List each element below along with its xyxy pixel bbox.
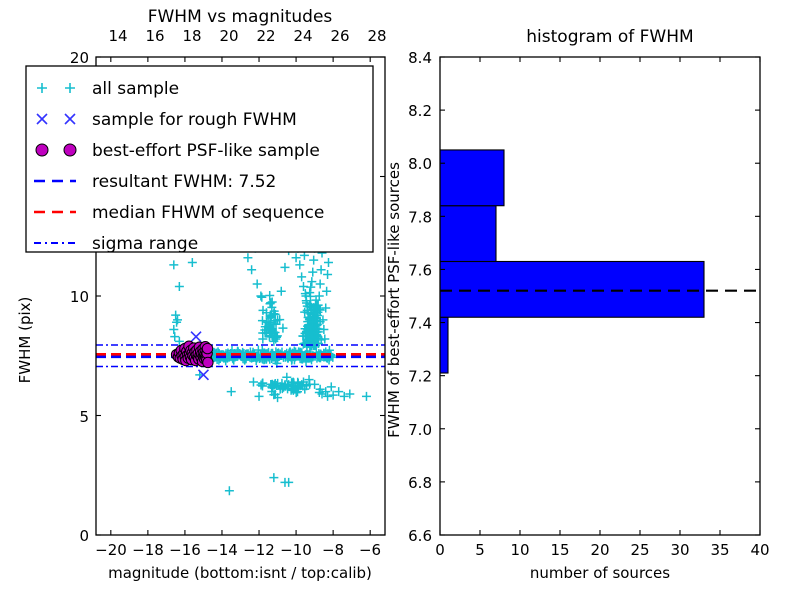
top-tick-label: 24	[293, 27, 312, 45]
top-tick-label: 14	[108, 27, 127, 45]
top-tick-label: 28	[367, 27, 386, 45]
legend-marker	[64, 144, 76, 156]
legend-label: median FHWM of sequence	[92, 203, 324, 223]
left-panel-title: FWHM vs magnitudes	[148, 7, 333, 27]
y-tick-label: 7.0	[408, 421, 432, 439]
legend-label: resultant FWHM: 7.52	[92, 172, 276, 192]
x-tick-label: 15	[550, 541, 569, 559]
x-tick-label: 30	[670, 541, 689, 559]
figure-canvas: FWHM vs magnitudes 14 16 18 20 22 24 26 …	[0, 0, 800, 600]
legend: all samplesample for rough FWHMbest-effo…	[26, 66, 373, 254]
y-tick-label: 20	[70, 49, 89, 67]
x-tick-label: 35	[710, 541, 729, 559]
top-tick-label: 22	[256, 27, 275, 45]
y-tick-label: 7.8	[408, 208, 432, 226]
legend-marker	[36, 144, 48, 156]
top-tick-label: 20	[219, 27, 238, 45]
legend-label: sigma range	[92, 234, 198, 254]
right-panel-title: histogram of FWHM	[526, 27, 693, 47]
y-tick-label: 7.6	[408, 261, 432, 279]
y-tick-label: 0	[79, 527, 89, 545]
y-tick-label: 7.2	[408, 368, 432, 386]
right-y-axis-label: FWHM of best-effort PSF-like sources	[385, 162, 403, 438]
top-tick-label: 26	[330, 27, 349, 45]
x-tick-label: 5	[475, 541, 485, 559]
histogram-bar	[440, 206, 496, 262]
left-x-axis-label: magnitude (bottom:isnt / top:calib)	[108, 564, 372, 582]
y-tick-label: 8.2	[408, 102, 432, 120]
y-tick-label: 5	[79, 408, 89, 426]
x-tick-label: −20	[95, 541, 127, 559]
y-tick-label: 7.4	[408, 315, 432, 333]
x-tick-label: 40	[750, 541, 769, 559]
y-tick-label: 6.6	[408, 527, 432, 545]
x-tick-label: 10	[510, 541, 529, 559]
scatter-point	[203, 357, 213, 367]
y-tick-label: 8.4	[408, 49, 432, 67]
x-tick-label: −12	[243, 541, 275, 559]
histogram-bar	[440, 317, 448, 373]
legend-label: sample for rough FWHM	[92, 110, 297, 130]
x-tick-label: −8	[322, 541, 344, 559]
figure-svg: FWHM vs magnitudes 14 16 18 20 22 24 26 …	[0, 0, 800, 600]
y-tick-label: 8.0	[408, 155, 432, 173]
scatter-point	[202, 343, 212, 353]
histogram-bar	[440, 150, 504, 206]
histogram-bar	[440, 261, 704, 317]
x-tick-label: −6	[359, 541, 381, 559]
top-tick-label: 16	[145, 27, 164, 45]
legend-label: best-effort PSF-like sample	[92, 141, 320, 161]
x-tick-label: −18	[132, 541, 164, 559]
top-tick-label: 18	[182, 27, 201, 45]
x-tick-label: 25	[630, 541, 649, 559]
y-tick-label: 6.8	[408, 474, 432, 492]
x-tick-label: 20	[590, 541, 609, 559]
y-tick-label: 10	[70, 288, 89, 306]
x-tick-label: 0	[435, 541, 445, 559]
x-tick-label: −10	[280, 541, 312, 559]
right-x-axis-label: number of sources	[530, 564, 670, 582]
legend-label: all sample	[92, 79, 179, 99]
left-y-axis-label: FWHM (pix)	[16, 297, 34, 384]
x-tick-label: −16	[169, 541, 201, 559]
x-tick-label: −14	[206, 541, 238, 559]
